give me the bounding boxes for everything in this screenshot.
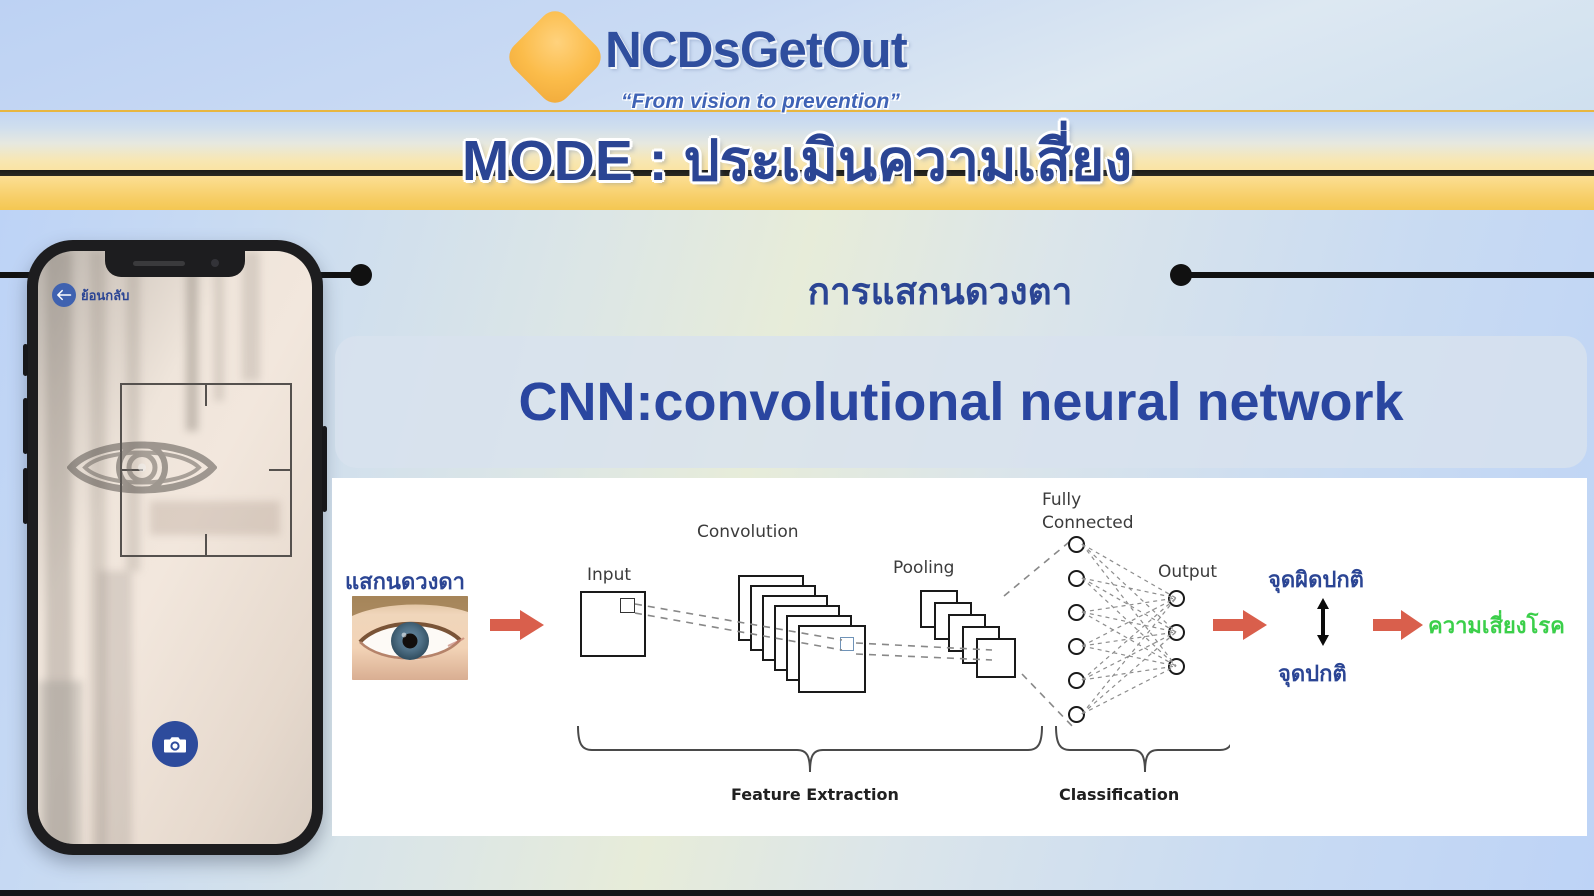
bottom-rule — [0, 890, 1594, 896]
brand-header: NCDsGetOut “From vision to prevention” — [0, 8, 1594, 108]
arrow-to-risk-icon — [1373, 608, 1425, 647]
fc-node — [1068, 706, 1085, 723]
fc-node — [1068, 672, 1085, 689]
speaker-grille-icon — [133, 261, 185, 266]
phone-mockup: ย้อนกลับ — [27, 240, 323, 855]
frame-tick-right — [269, 469, 291, 471]
mode-title: MODE : ประเมินความเสี่ยง — [0, 116, 1594, 206]
scan-eye-label: แสกนดวงดา — [345, 564, 465, 599]
face-texture — [242, 251, 260, 381]
input-kernel-window — [620, 598, 635, 613]
back-button[interactable]: ย้อนกลับ — [52, 283, 129, 307]
camera-shutter-button[interactable] — [152, 721, 198, 767]
arrow-photo-to-input-icon — [490, 608, 546, 647]
cnn-title: CNN:convolutional neural network — [518, 371, 1403, 433]
stage-label-output: Output — [1158, 562, 1217, 582]
fc-node — [1068, 638, 1085, 655]
page-title: การแสกนดวงตา — [340, 262, 1540, 321]
phone-power-button[interactable] — [322, 426, 327, 512]
fc-node — [1068, 536, 1085, 553]
arrow-left-icon — [52, 283, 76, 307]
cnn-diagram-panel — [332, 478, 1587, 836]
bracket-label-classification: Classification — [1059, 785, 1179, 804]
bracket-label-feature-extraction: Feature Extraction — [731, 785, 899, 804]
phone-screen: ย้อนกลับ — [38, 251, 312, 844]
fc-node — [1068, 570, 1085, 587]
result-label-abnormal: จุดผิดปกติ — [1268, 562, 1364, 597]
pool-feature-map — [976, 638, 1016, 678]
phone-volume-up[interactable] — [23, 398, 28, 454]
result-label-normal: จุดปกติ — [1278, 656, 1347, 691]
stage-label-fully-connected-1: Fully — [1042, 490, 1081, 510]
brand-title: NCDsGetOut — [605, 20, 907, 79]
human-eye-photo — [352, 596, 468, 680]
camera-icon — [163, 734, 187, 754]
phone-mute-switch[interactable] — [23, 344, 28, 376]
arrow-output-to-result-icon — [1213, 608, 1269, 647]
output-node — [1168, 624, 1185, 641]
double-arrow-vertical-icon — [1312, 596, 1334, 653]
input-feature-map — [580, 591, 646, 657]
face-texture — [38, 681, 82, 844]
eye-outline-icon — [67, 430, 217, 511]
front-camera-icon — [211, 259, 219, 267]
cnn-title-panel: CNN:convolutional neural network — [335, 336, 1587, 468]
phone-notch — [105, 251, 245, 277]
stage-label-fully-connected-2: Connected — [1042, 513, 1134, 533]
frame-tick-top — [205, 384, 207, 406]
phone-volume-down[interactable] — [23, 468, 28, 524]
conv-kernel-window — [840, 637, 854, 651]
mode-banner: MODE : ประเมินความเสี่ยง — [0, 112, 1594, 210]
output-node — [1168, 590, 1185, 607]
stage-label-convolution: Convolution — [697, 522, 799, 542]
stage-label-pooling: Pooling — [893, 558, 954, 578]
brand-tagline: “From vision to prevention” — [621, 90, 900, 114]
result-label-risk: ความเสี่ยงโรค — [1428, 608, 1565, 643]
output-node — [1168, 658, 1185, 675]
back-button-label: ย้อนกลับ — [81, 285, 129, 306]
face-texture — [98, 571, 132, 844]
orange-diamond-icon — [503, 5, 608, 110]
conv-feature-map — [798, 625, 866, 693]
stage-label-input: Input — [587, 565, 631, 585]
frame-tick-bottom — [205, 534, 207, 556]
fc-node — [1068, 604, 1085, 621]
